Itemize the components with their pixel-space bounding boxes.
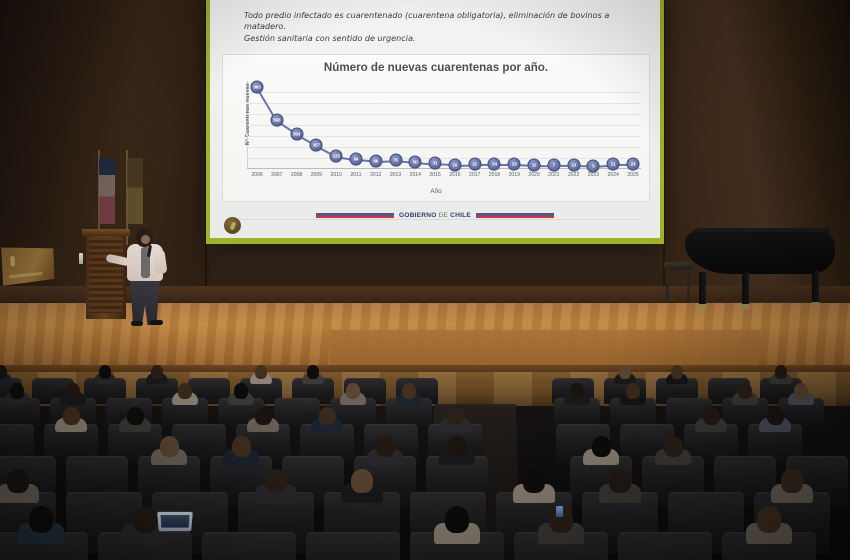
footer-flag-bar-right (476, 213, 554, 218)
grand-piano (685, 232, 835, 274)
chart-data-point: 31 (429, 157, 442, 170)
audience-member-head (619, 365, 631, 379)
audience-member-head (448, 436, 467, 457)
footer-divider (228, 219, 642, 220)
chart-x-axis-label: Año (223, 188, 649, 195)
chart-data-point: 23 (627, 158, 640, 171)
audience-member-head (447, 407, 464, 425)
chart-x-tick: 2007 (271, 172, 282, 178)
audience-member-head (445, 506, 469, 533)
chart-x-tick: 2019 (509, 172, 520, 178)
chart-data-point: 24 (488, 158, 501, 171)
presenter-shoe-left (131, 321, 143, 326)
audience-laptop (157, 512, 193, 531)
piano-leg-2 (742, 272, 749, 306)
podium-top (82, 229, 130, 236)
chart-gridline (247, 114, 641, 115)
audience-member-head (265, 469, 287, 493)
chart-plot-area: N° Cuarentenas nuevas 963558393257125846… (247, 81, 641, 169)
chart-data-point: 5 (587, 159, 600, 172)
slide-bullet-1: Todo predio infectado es cuarentenado (c… (244, 10, 636, 33)
chart-x-tick: 2014 (410, 172, 421, 178)
audience-member-head (66, 383, 80, 399)
piano-leg-1 (699, 272, 706, 306)
audience-member-head (757, 506, 781, 533)
audience-member-head (29, 506, 53, 533)
audience-member-head (346, 383, 360, 399)
chart-gridline (247, 158, 641, 159)
audience-member-head (232, 436, 251, 457)
chart-gridline (247, 103, 641, 104)
audience-member-head (319, 407, 336, 425)
audience-member-head (234, 383, 248, 399)
chart-data-point: 393 (290, 127, 303, 140)
chart-x-tick: 2020 (528, 172, 539, 178)
audience-member-head (255, 407, 272, 425)
chart-data-point: 12 (528, 159, 541, 172)
audience-member-head (402, 383, 416, 399)
audience-member-head (609, 469, 631, 493)
slide-body-text: Todo predio infectado es cuarentenado (c… (244, 10, 636, 44)
audience-member-head (703, 407, 720, 425)
slide-bullet-2: Gestión sanitaria con sentido de urgenci… (244, 33, 636, 44)
audience-member-head (7, 469, 29, 493)
audience-member-head (351, 469, 373, 493)
chart-x-tick: 2010 (330, 172, 341, 178)
chilean-flag (99, 158, 115, 224)
chart-data-point: 10 (567, 159, 580, 172)
auditorium-seat (202, 532, 296, 560)
audience-member-head (592, 436, 611, 457)
ministry-seal-icon (224, 217, 241, 234)
piano-bench-leg-left (666, 269, 669, 301)
audience-member-head (626, 383, 640, 399)
chart-x-tick: 2017 (469, 172, 480, 178)
slide-section-title: Saneamiento (222, 0, 313, 4)
chart-x-tick: 2025 (627, 172, 638, 178)
chart-x-tick: 2023 (588, 172, 599, 178)
chart-data-point: 257 (310, 138, 323, 151)
chart-x-tick: 2011 (350, 172, 361, 178)
chart-x-tick: 2013 (390, 172, 401, 178)
chart-data-point: 558 (270, 114, 283, 127)
footer-brand-text: GOBIERNO DE CHILE (399, 212, 471, 219)
chart-x-tick: 2018 (489, 172, 500, 178)
water-bottle (79, 253, 83, 264)
audience-member-head (151, 365, 163, 379)
wall-sign-emblem (10, 256, 15, 266)
audience-member-head (127, 407, 144, 425)
footer-flag-bar-left (316, 213, 394, 218)
chart-data-point: 22 (468, 158, 481, 171)
audience-member-head (255, 365, 267, 379)
audience-member-head (738, 383, 752, 399)
podium (86, 233, 126, 319)
audience-member-head (376, 436, 395, 457)
chart-data-point: 50 (409, 155, 422, 168)
slide-footer: GOBIERNO DE CHILE (210, 212, 660, 228)
piano-leg-3 (812, 270, 819, 304)
piano-bench-leg-right (687, 269, 690, 301)
chart-data-point: 84 (349, 153, 362, 166)
chart-x-tick: 2021 (548, 172, 559, 178)
audience-member-head (523, 469, 545, 493)
audience-member-head (160, 436, 179, 457)
auditorium-seat (618, 532, 712, 560)
piano-caster-3 (811, 302, 820, 307)
chart-gridline (247, 136, 641, 137)
chart-x-tick: 2006 (251, 172, 262, 178)
chart-gridline (247, 147, 641, 148)
chart-data-point: 21 (607, 158, 620, 171)
piano-caster-2 (741, 304, 750, 309)
footer-government-brand: GOBIERNO DE CHILE (210, 212, 660, 219)
chart-x-tick: 2012 (370, 172, 381, 178)
audience-member-head (178, 383, 192, 399)
audience-member-head (781, 469, 803, 493)
wall-wood-trim (0, 286, 850, 302)
institutional-flag (127, 158, 143, 224)
presenter-face (141, 235, 150, 244)
chart-data-point: 963 (251, 81, 264, 94)
audience-member-head (794, 383, 808, 399)
chart-x-tick: 2015 (429, 172, 440, 178)
chart-data-point: 66 (369, 154, 382, 167)
chart-data-point: 125 (330, 149, 343, 162)
audience-member-head (63, 407, 80, 425)
chart-x-tick: 2022 (568, 172, 579, 178)
chart-data-point: 23 (508, 158, 521, 171)
audience-member-head (99, 365, 111, 379)
audience-phone (556, 506, 563, 517)
chart-x-tick: 2016 (449, 172, 460, 178)
chart-gridline (247, 92, 641, 93)
audience-member-head (671, 365, 683, 379)
chart-gridline (247, 125, 641, 126)
wall-sign-text (9, 272, 42, 278)
chart-data-point: 16 (448, 158, 461, 171)
chart-x-tick: 2024 (608, 172, 619, 178)
projected-slide: Saneamiento TRABAJANDO PARA USTED Todo p… (210, 0, 660, 238)
chart-x-axis (247, 168, 641, 169)
audience-member-head (307, 365, 319, 379)
audience-member-head (767, 407, 784, 425)
auditorium-photo: Saneamiento TRABAJANDO PARA USTED Todo p… (0, 0, 850, 560)
presenter-shoe-right (150, 320, 163, 325)
auditorium-seat (306, 532, 400, 560)
audience-member-head (10, 383, 24, 399)
audience-member-head (133, 506, 157, 533)
chart-x-tick: 2008 (291, 172, 302, 178)
chart-container: Número de nuevas cuarentenas por año. N°… (222, 54, 650, 202)
audience-member-head (775, 365, 787, 379)
chart-title: Número de nuevas cuarentenas por año. (223, 61, 649, 74)
audience-member-head (664, 436, 683, 457)
chart-x-tick-labels: 2006200720082009201020112012201320142015… (247, 172, 641, 181)
audience-member-head (570, 383, 584, 399)
piano-caster-1 (698, 304, 707, 309)
chart-data-point: 7 (547, 159, 560, 172)
chart-x-tick: 2009 (311, 172, 322, 178)
wall-panel-right (655, 0, 850, 330)
chart-data-point: 75 (389, 153, 402, 166)
